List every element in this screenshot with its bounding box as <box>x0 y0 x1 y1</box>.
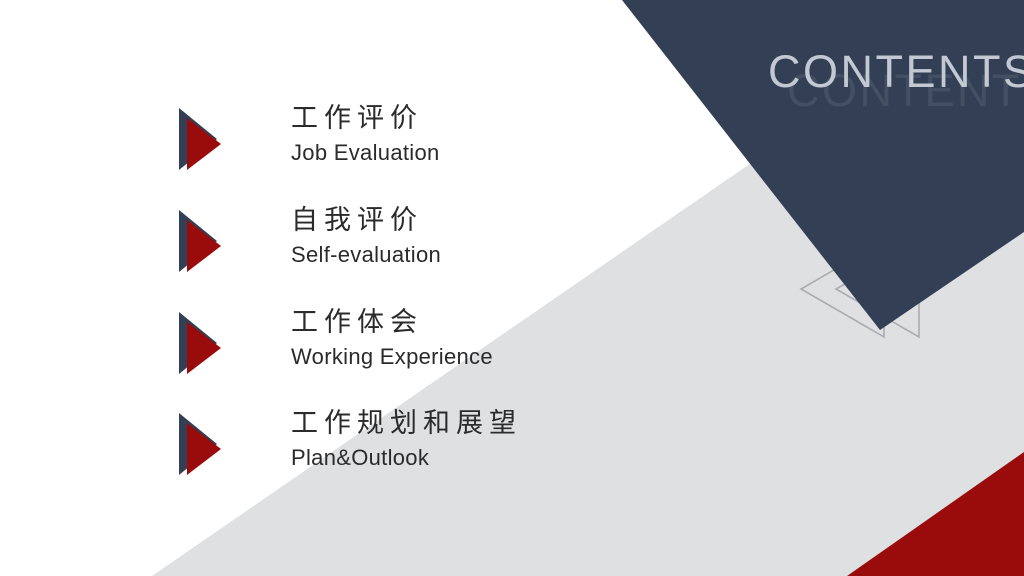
double-triangle-play-icon <box>176 312 228 374</box>
list-item[interactable]: 工作规划和展望 Plan&Outlook <box>176 409 522 493</box>
double-triangle-play-icon <box>176 108 228 170</box>
list-item-text: 自我评价 Self-evaluation <box>291 203 441 270</box>
list-item-title-en: Working Experience <box>291 342 493 372</box>
list-item-title-cn: 工作体会 <box>291 305 493 341</box>
agenda-list: 工作评价 Job Evaluation 自我评价 Self-evaluation <box>0 0 1024 576</box>
list-item-title-en: Job Evaluation <box>291 138 440 168</box>
presentation-slide: CONTENTS CONTENTS 工作评价 Job Evaluation <box>0 0 1024 576</box>
list-item-text: 工作体会 Working Experience <box>291 305 493 372</box>
list-item[interactable]: 工作评价 Job Evaluation <box>176 104 440 188</box>
double-triangle-play-icon <box>176 413 228 475</box>
list-item-text: 工作评价 Job Evaluation <box>291 101 440 168</box>
list-item-title-cn: 工作评价 <box>291 101 440 137</box>
list-item[interactable]: 自我评价 Self-evaluation <box>176 206 441 290</box>
list-item-title-cn: 自我评价 <box>291 203 441 239</box>
list-item-title-en: Self-evaluation <box>291 240 441 270</box>
double-triangle-play-icon <box>176 210 228 272</box>
list-item[interactable]: 工作体会 Working Experience <box>176 308 493 392</box>
list-item-title-cn: 工作规划和展望 <box>291 406 522 442</box>
list-item-text: 工作规划和展望 Plan&Outlook <box>291 406 522 473</box>
list-item-title-en: Plan&Outlook <box>291 443 522 473</box>
